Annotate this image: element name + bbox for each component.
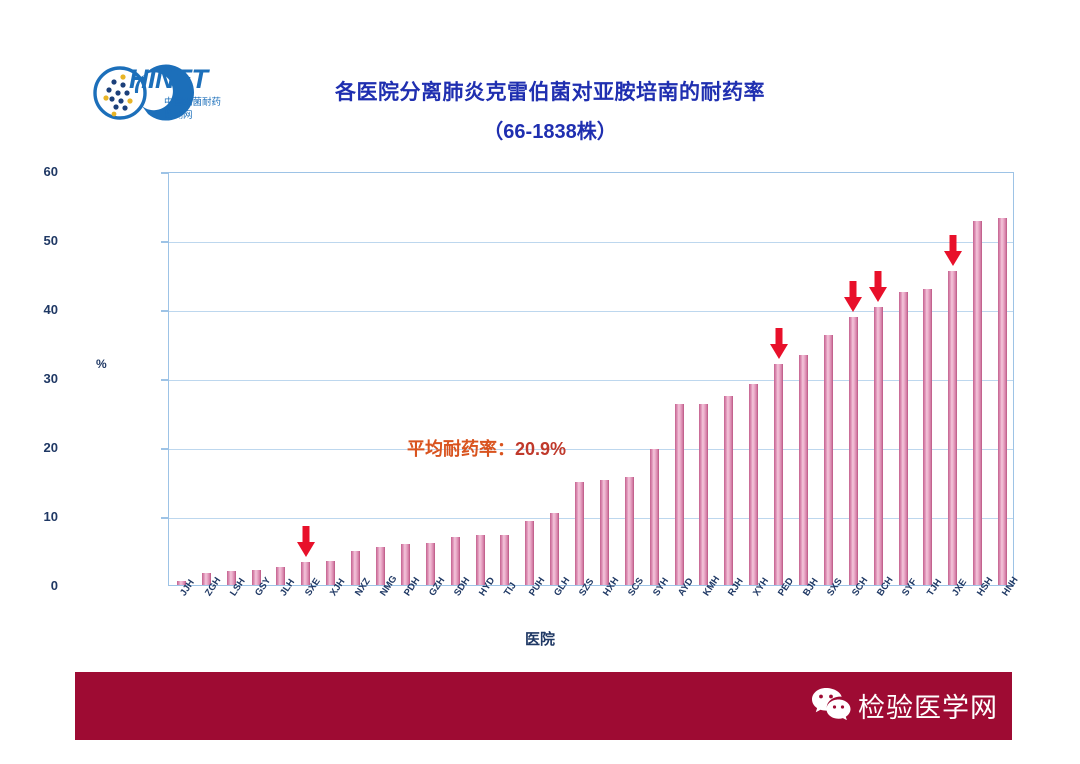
- gridline: [169, 242, 1013, 243]
- x-axis-title: 医院: [0, 628, 1080, 649]
- bar: [948, 271, 957, 585]
- y-tick-mark: [161, 379, 168, 381]
- y-tick-mark: [161, 448, 168, 450]
- bar: [401, 544, 410, 585]
- bar: [724, 396, 733, 585]
- y-tick-mark: [161, 517, 168, 519]
- annotation-arrow: [867, 271, 889, 305]
- gridline: [169, 518, 1013, 519]
- annotation-arrow: [842, 281, 864, 315]
- bar: [799, 355, 808, 585]
- y-tick-label: 60: [0, 164, 58, 179]
- bar: [600, 480, 609, 585]
- bar: [376, 547, 385, 585]
- bar: [625, 477, 634, 585]
- wechat-icon: [811, 686, 851, 725]
- bar: [699, 404, 708, 585]
- bar: [899, 292, 908, 585]
- bar: [525, 521, 534, 585]
- average-rate-value: 20.9%: [515, 439, 566, 459]
- bar: [451, 537, 460, 585]
- annotation-arrow: [942, 235, 964, 269]
- bar: [500, 535, 509, 585]
- wechat-brand: 检验医学网: [811, 686, 998, 725]
- y-tick-mark: [161, 241, 168, 243]
- plot-area: 平均耐药率：20.9%: [168, 172, 1014, 586]
- bar: [426, 543, 435, 585]
- y-tick-mark: [161, 310, 168, 312]
- wechat-brand-text: 检验医学网: [858, 686, 998, 725]
- bar: [923, 289, 932, 585]
- bar: [849, 317, 858, 585]
- bar: [749, 384, 758, 585]
- bar: [575, 482, 584, 586]
- average-rate-prefix: 平均耐药率：: [407, 439, 515, 459]
- bar: [824, 335, 833, 585]
- footer-banner: 检验医学网: [75, 672, 1012, 740]
- bar: [774, 364, 783, 585]
- average-rate-annotation: 平均耐药率：20.9%: [407, 435, 566, 461]
- annotation-arrow: [768, 328, 790, 362]
- gridline: [169, 380, 1013, 381]
- y-tick-label: 30: [0, 371, 58, 386]
- y-tick-mark: [161, 172, 168, 174]
- gridline: [169, 311, 1013, 312]
- y-tick-label: 40: [0, 302, 58, 317]
- bar: [998, 218, 1007, 585]
- chart-container: % 0102030405060 平均耐药率：20.9% JJHZGHLSHGSY…: [0, 0, 1080, 670]
- annotation-arrow: [295, 526, 317, 560]
- y-tick-label: 50: [0, 233, 58, 248]
- y-tick-label: 0: [0, 578, 58, 593]
- bar: [675, 404, 684, 585]
- y-tick-label: 20: [0, 440, 58, 455]
- bar: [351, 551, 360, 586]
- bar: [550, 513, 559, 585]
- gridline: [169, 449, 1013, 450]
- y-tick-label: 10: [0, 509, 58, 524]
- y-axis-title: %: [96, 357, 107, 371]
- bar: [874, 307, 883, 585]
- bar: [650, 449, 659, 585]
- bar: [973, 221, 982, 585]
- bar: [476, 535, 485, 585]
